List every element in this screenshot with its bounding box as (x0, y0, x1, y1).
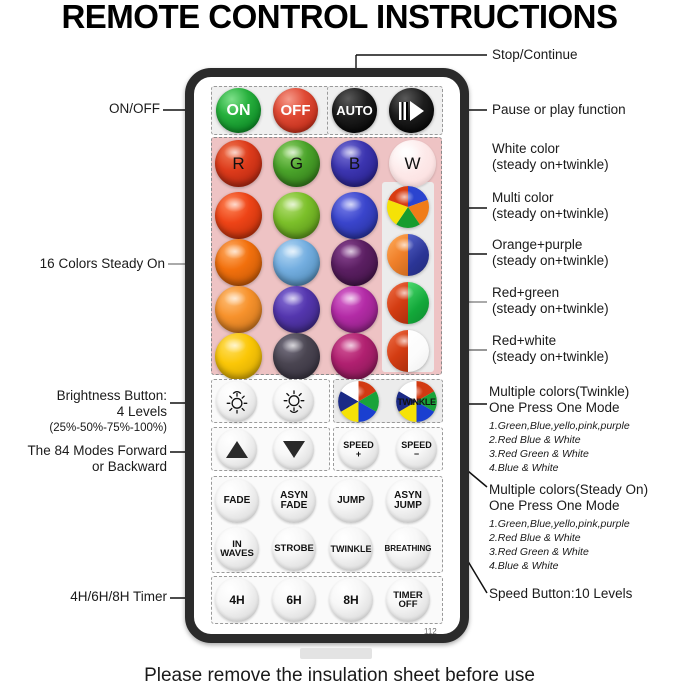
brightness-down-icon (281, 389, 307, 415)
multi-pie-button[interactable] (338, 381, 379, 422)
speed-down-sign: − (414, 450, 419, 459)
on-button[interactable]: ON (216, 88, 261, 133)
callout-steady-title: Multiple colors(Steady On) One Press One… (489, 482, 648, 514)
multi-color-pie-icon (387, 186, 429, 228)
brightness-up-icon (224, 389, 250, 415)
callout-brightness-levels: (25%-50%-75%-100%) (10, 422, 167, 436)
insulation-tab (300, 648, 372, 659)
instruction-diagram: REMOTE CONTROL INSTRUCTIONS (0, 0, 679, 693)
color-swatch[interactable] (273, 286, 320, 333)
color-swatch[interactable] (273, 192, 320, 239)
speed-down-button[interactable]: SPEED − (396, 429, 437, 470)
asyn-fade-button[interactable]: ASYN FADE (272, 479, 316, 523)
callout-twinkle-list: 1.Green,Blue,yello,pink,purple 2.Red Blu… (489, 420, 630, 475)
timer-8h-button[interactable]: 8H (329, 578, 373, 622)
red-white-swatch[interactable] (387, 330, 429, 372)
multi-pie-twinkle-button[interactable]: TWINKLE (396, 381, 437, 422)
speed-up-sign: + (356, 450, 361, 459)
on-button-label: ON (227, 103, 251, 119)
mode-forward-button[interactable] (216, 429, 257, 470)
timer-off-label-2: OFF (399, 600, 418, 610)
pause-play-button[interactable] (389, 88, 434, 133)
color-swatch[interactable] (215, 333, 262, 380)
asyn-fade-label-2: FADE (281, 501, 308, 511)
timer-8h-label-1: 8H (343, 594, 358, 606)
speed-up-button[interactable]: SPEED + (338, 429, 379, 470)
callout-multi-color: Multi color (steady on+twinkle) (492, 190, 609, 222)
asyn-jump-button[interactable]: ASYN JUMP (386, 479, 430, 523)
twinkle-button-label: TWINKLE (396, 397, 437, 407)
breathing-button[interactable]: BREATHING (386, 527, 430, 571)
callout-on-off: ON/OFF (40, 101, 160, 117)
color-button-green-G[interactable]: G (273, 140, 320, 187)
brightness-up-button[interactable] (216, 381, 257, 422)
callout-steady-list: 1.Green,Blue,yello,pink,purple 2.Red Blu… (489, 518, 630, 573)
color-swatch[interactable] (331, 333, 378, 380)
callout-white-color: White color (steady on+twinkle) (492, 141, 609, 173)
callout-pause-play: Pause or play function (492, 102, 626, 118)
fade-button[interactable]: FADE (215, 479, 259, 523)
color-swatch[interactable] (215, 286, 262, 333)
twinkle-effect-button[interactable]: TWINKLE (329, 527, 373, 571)
color-button-blue-B[interactable]: B (331, 140, 378, 187)
timer-4h-label-1: 4H (229, 594, 244, 606)
color-button-white-W[interactable]: W (389, 140, 436, 187)
timer-6h-label-1: 6H (286, 594, 301, 606)
in-waves-button[interactable]: IN WAVES (215, 527, 259, 571)
color-button-label: G (273, 140, 320, 187)
timer-6h-button[interactable]: 6H (272, 578, 316, 622)
callout-timer: 4H/6H/8H Timer (10, 589, 167, 605)
model-number: 112 (424, 627, 437, 636)
callout-red-green: Red+green (steady on+twinkle) (492, 285, 609, 317)
auto-button[interactable]: AUTO (332, 88, 377, 133)
in-waves-label-2: WAVES (220, 549, 254, 559)
strobe-button[interactable]: STROBE (272, 527, 316, 571)
callout-red-white: Red+white (steady on+twinkle) (492, 333, 609, 365)
color-button-label: W (389, 140, 436, 187)
callout-16-colors: 16 Colors Steady On (10, 256, 165, 272)
timer-4h-button[interactable]: 4H (215, 578, 259, 622)
off-button[interactable]: OFF (273, 88, 318, 133)
color-swatch[interactable] (215, 192, 262, 239)
page-title: REMOTE CONTROL INSTRUCTIONS (0, 0, 679, 36)
color-button-label: R (215, 140, 262, 187)
jump-label-1: JUMP (337, 496, 365, 506)
color-swatch[interactable] (331, 286, 378, 333)
callout-speed-button: Speed Button:10 Levels (489, 586, 632, 602)
breathing-label-1: BREATHING (385, 545, 432, 553)
color-button-label: B (331, 140, 378, 187)
fade-label-1: FADE (224, 496, 251, 506)
triangle-down-icon (283, 441, 305, 458)
callout-stop-continue: Stop/Continue (492, 47, 578, 63)
asyn-jump-label-2: JUMP (394, 501, 422, 511)
red-green-swatch[interactable] (387, 282, 429, 324)
orange-purple-swatch[interactable] (387, 234, 429, 276)
color-swatch[interactable] (331, 192, 378, 239)
color-swatch[interactable] (273, 239, 320, 286)
multi-color-swatch[interactable] (387, 186, 429, 228)
color-button-red-R[interactable]: R (215, 140, 262, 187)
callout-twinkle-title: Multiple colors(Twinkle) One Press One M… (489, 384, 629, 416)
pause-play-icon (399, 100, 425, 122)
color-swatch[interactable] (215, 239, 262, 286)
triangle-up-icon (226, 441, 248, 458)
callout-orange-purple: Orange+purple (steady on+twinkle) (492, 237, 609, 269)
mode-backward-button[interactable] (273, 429, 314, 470)
twinkle-effect-label-1: TWINKLE (331, 545, 372, 554)
off-button-label: OFF (281, 103, 311, 118)
multi-pie-icon (338, 381, 379, 422)
footer-note: Please remove the insulation sheet befor… (0, 665, 679, 687)
callout-84-modes: The 84 Modes Forward or Backward (0, 443, 167, 475)
color-swatch[interactable] (273, 333, 320, 380)
timer-off-button[interactable]: TIMER OFF (386, 578, 430, 622)
callout-brightness: Brightness Button: 4 Levels (10, 388, 167, 420)
brightness-down-button[interactable] (273, 381, 314, 422)
auto-button-label: AUTO (336, 104, 373, 117)
jump-button[interactable]: JUMP (329, 479, 373, 523)
strobe-label-1: STROBE (274, 544, 314, 554)
color-swatch[interactable] (331, 239, 378, 286)
